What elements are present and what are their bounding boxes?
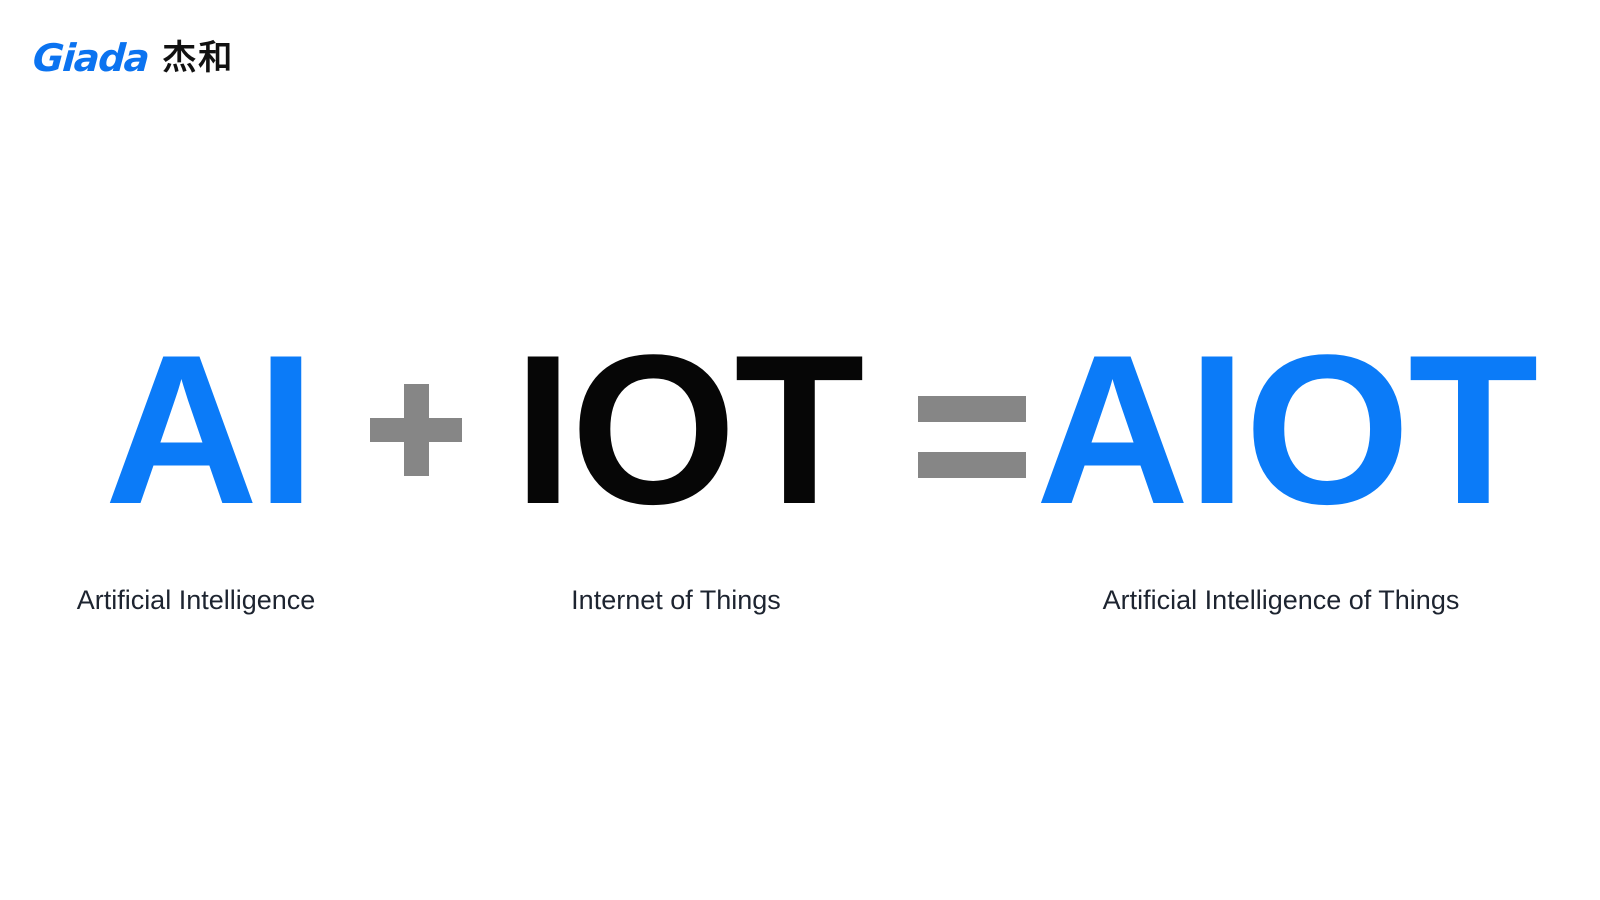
- term-iot: IOT: [536, 300, 840, 560]
- term-ai: AI: [118, 300, 300, 560]
- plus-vertical-bar: [404, 384, 429, 476]
- equals-sign-icon: [918, 300, 1030, 560]
- term-aiot: AIOT: [1068, 300, 1504, 560]
- caption-aiot: Artificial Intelligence of Things: [1096, 580, 1466, 620]
- caption-iot: Internet of Things: [566, 580, 786, 620]
- equals-top-bar: [918, 396, 1026, 422]
- brand-wordmark: Giada: [32, 39, 150, 77]
- caption-ai: Artificial Intelligence: [71, 580, 321, 620]
- equation-row: AI IOT AIOT: [0, 300, 1600, 560]
- equals-bottom-bar: [918, 452, 1026, 478]
- caption-row: Artificial Intelligence Internet of Thin…: [0, 580, 1600, 624]
- plus-sign-icon: [370, 300, 466, 560]
- brand-logo: Giada 杰和: [33, 36, 234, 80]
- brand-chinese-name: 杰和: [162, 41, 234, 75]
